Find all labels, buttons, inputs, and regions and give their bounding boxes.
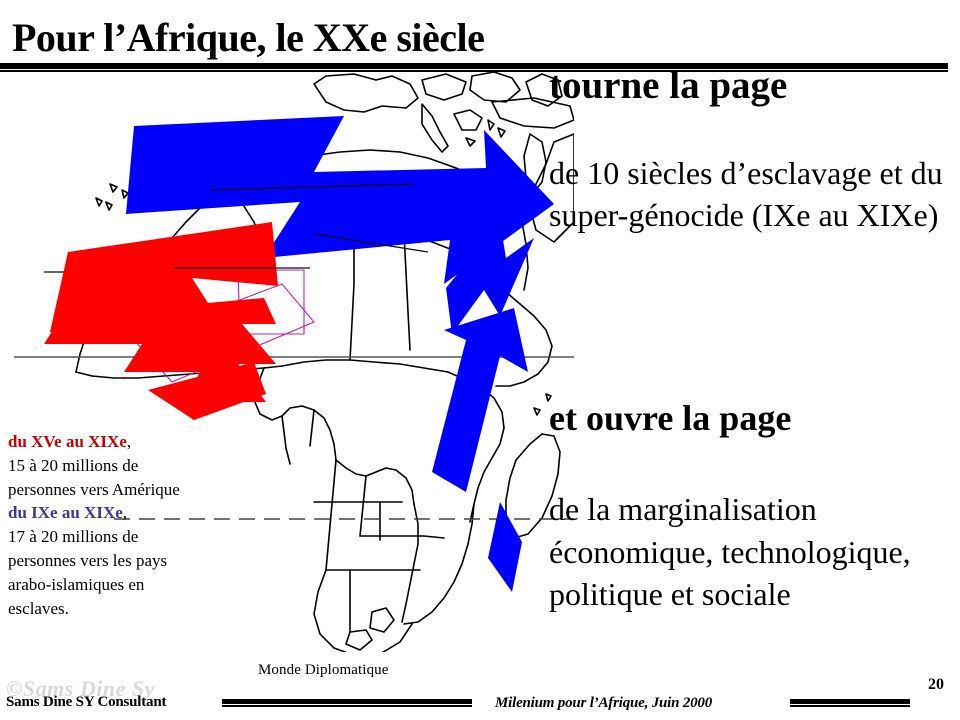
note-line-4-rest: , [123,503,127,522]
note-line-3: personnes vers Amérique [8,478,270,502]
page-title-line-1: Pour l’Afrique, le XXe siècle [12,18,572,58]
note-red-label: du XVe au XIXe [8,432,127,451]
body-heading-2: et ouvre la page [549,400,954,438]
note-line-2: 15 à 20 millions de [8,454,270,478]
map-source-caption: Monde Diplomatique [258,662,389,679]
note-line-1-rest: , [127,432,131,451]
page-title-line-2: tourne la page [549,66,949,105]
note-line-7: arabo-islamiques en [8,573,270,597]
body-paragraph-1: de 10 siècles d’esclavage et du super-gé… [549,152,954,236]
transatlantic-slave-trade-arrow [44,222,278,420]
note-line-1: du XVe au XIXe, [8,430,270,454]
footer-author: Sams Dine SY Consultant [6,694,166,711]
footer-rule-right [790,699,910,707]
note-line-4: du IXe au XIXe, [8,501,270,525]
note-line-5: 17 à 20 millions de [8,525,270,549]
trade-statistics-note: du XVe au XIXe, 15 à 20 millions de pers… [8,430,270,620]
body-paragraph-2: de la marginalisation économique, techno… [549,488,954,616]
footer-event: Milenium pour l’Afrique, Juin 2000 [495,695,712,712]
page-number: 20 [928,676,944,694]
note-line-6: personnes vers les pays [8,549,270,573]
slide-canvas: Pour l’Afrique, le XXe siècle tourne la … [0,0,960,720]
note-line-8: esclaves. [8,597,270,621]
note-blue-label: du IXe au XIXe [8,503,123,522]
footer-rule-left [222,699,472,707]
